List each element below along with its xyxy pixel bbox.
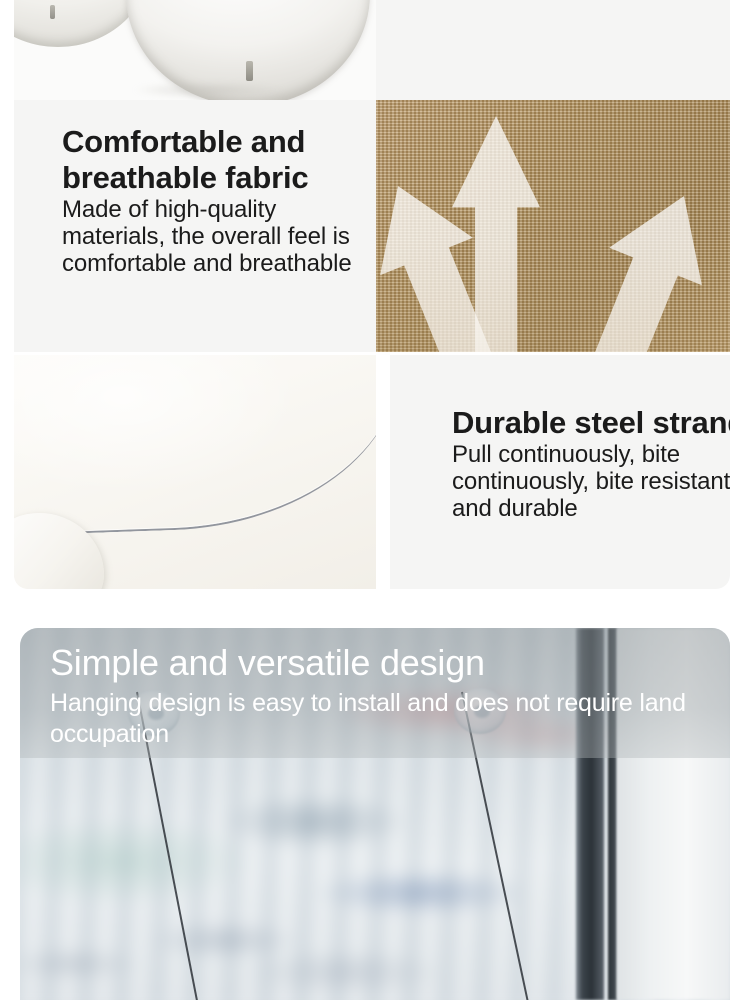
steel-strand-photo <box>14 355 376 589</box>
feature-steel-panel: Durable steel strand Pull continuously, … <box>390 355 730 589</box>
feature-comfort-text: Comfortable and breathable fabric Made o… <box>62 124 372 277</box>
banner-body: Hanging design is easy to install and do… <box>50 688 710 750</box>
suction-cup-shadow <box>134 82 284 98</box>
product-feature-page: firmly adhere to the smooth surface Comf… <box>0 0 750 1000</box>
feature-steel-body: Pull continuously, bite continuously, bi… <box>452 441 730 522</box>
feature-grid: firmly adhere to the smooth surface Comf… <box>14 0 730 589</box>
fabric-fade-overlay <box>376 100 730 352</box>
banner-heading: Simple and versatile design <box>50 640 710 686</box>
banner-text-block: Simple and versatile design Hanging desi… <box>50 640 710 750</box>
suction-cup-photo <box>14 0 376 100</box>
feature-steel-heading: Durable steel strand <box>452 405 730 441</box>
feature-comfort-panel: Comfortable and breathable fabric Made o… <box>14 100 376 352</box>
wire-photo-light-overlay <box>14 355 376 589</box>
feature-adhere-panel: firmly adhere to the smooth surface <box>376 0 730 100</box>
breathable-fabric-photo <box>376 100 730 352</box>
feature-comfort-body: Made of high-quality materials, the over… <box>62 196 372 277</box>
feature-comfort-heading: Comfortable and breathable fabric <box>62 124 372 196</box>
versatile-design-banner: Simple and versatile design Hanging desi… <box>20 628 730 1000</box>
feature-steel-text: Durable steel strand Pull continuously, … <box>452 405 730 522</box>
